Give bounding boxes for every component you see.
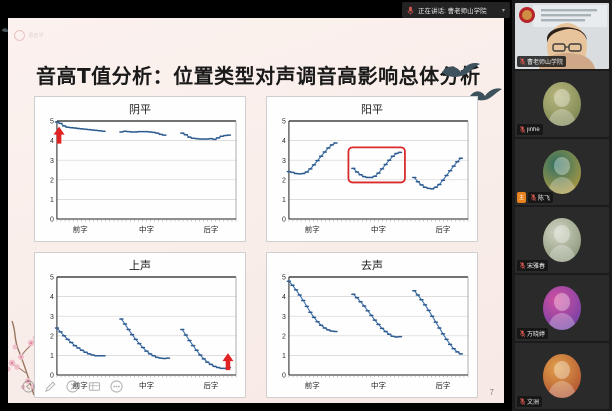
active-speaker-name: 正在讲话: 曹老师山学院 xyxy=(418,5,487,15)
chevron-down-icon[interactable]: ▾ xyxy=(502,7,505,14)
mic-muted-icon xyxy=(531,194,536,201)
x-axis-category-label: 中字 xyxy=(139,380,154,390)
participant-name-chip: 陈飞 xyxy=(528,192,553,203)
y-axis-tick-label: 1 xyxy=(282,353,286,360)
y-axis-tick-label: 5 xyxy=(50,119,54,126)
chart-plot-area: 012345前字中字后字 xyxy=(273,273,472,393)
y-axis-tick-label: 5 xyxy=(282,119,286,126)
y-axis-tick-label: 5 xyxy=(50,275,54,282)
participant-name-chip: 文洲 xyxy=(517,396,542,407)
mic-muted-icon xyxy=(520,398,525,405)
chart-series-line xyxy=(353,294,400,337)
x-axis-category-label: 后字 xyxy=(203,380,218,390)
chart-series-line xyxy=(121,319,168,359)
watermark-ring-icon xyxy=(14,30,25,41)
chart-title: 阴平 xyxy=(35,101,245,117)
more-options-icon[interactable] xyxy=(110,380,123,393)
y-axis-tick-label: 0 xyxy=(50,217,54,224)
participant-filmstrip[interactable]: 曹老师山学院jinhe主陈飞宋雅春万晓婷文洲 xyxy=(512,0,612,411)
y-axis-tick-label: 0 xyxy=(282,217,286,224)
x-axis-category-label: 中字 xyxy=(139,224,154,234)
avatar xyxy=(543,354,581,398)
chart-title: 去声 xyxy=(267,257,477,273)
x-axis-category-label: 后字 xyxy=(435,380,450,390)
participant-name: jinhe xyxy=(527,127,540,133)
y-axis-tick-label: 1 xyxy=(50,353,54,360)
chart-svg-2: 012345前字中字后字 xyxy=(41,273,240,393)
participant-name-chip: jinhe xyxy=(517,124,543,135)
participant-name: 宋雅春 xyxy=(527,261,545,270)
participant-name-chip: 曹老师山学院 xyxy=(517,56,566,67)
host-badge: 主 xyxy=(517,192,526,203)
participant-tile[interactable]: 万晓婷 xyxy=(515,275,609,341)
participant-name-chip: 万晓婷 xyxy=(517,328,548,339)
chart-series-line xyxy=(289,281,336,331)
x-axis-category-label: 后字 xyxy=(435,224,450,234)
meeting-window: 语音学 音高T值分析：位置类型对声 xyxy=(0,0,612,411)
chart-card-yinping[interactable]: 阴平 012345前字中字后字 xyxy=(34,96,246,242)
chart-plot-area: 012345前字中字后字 xyxy=(273,117,472,237)
y-axis-tick-label: 2 xyxy=(50,177,54,184)
participant-name-chip: 宋雅春 xyxy=(517,260,548,271)
mic-muted-icon xyxy=(520,330,525,337)
chart-title: 上声 xyxy=(35,257,245,273)
y-axis-tick-label: 2 xyxy=(282,333,286,340)
avatar xyxy=(543,218,581,262)
mic-muted-icon xyxy=(520,262,525,269)
y-axis-tick-label: 3 xyxy=(50,314,54,321)
y-axis-tick-label: 3 xyxy=(50,158,54,165)
x-axis-category-label: 中字 xyxy=(371,224,386,234)
participant-tile[interactable]: 文洲 xyxy=(515,343,609,409)
participant-name: 陈飞 xyxy=(538,193,550,202)
y-axis-tick-label: 1 xyxy=(50,197,54,204)
x-axis-category-label: 前字 xyxy=(305,224,320,234)
y-axis-tick-label: 1 xyxy=(282,197,286,204)
y-axis-tick-label: 3 xyxy=(282,314,286,321)
next-slide-icon[interactable] xyxy=(66,380,79,393)
participant-name: 万晓婷 xyxy=(527,329,545,338)
participant-tile[interactable]: 曹老师山学院 xyxy=(515,3,609,69)
y-axis-tick-label: 5 xyxy=(282,275,286,282)
shared-screen-stage[interactable]: 语音学 音高T值分析：位置类型对声 xyxy=(0,0,512,411)
participant-tile[interactable]: 主陈飞 xyxy=(515,139,609,205)
participant-tile[interactable]: jinhe xyxy=(515,71,609,137)
chart-title: 阳平 xyxy=(267,101,477,117)
y-axis-tick-label: 0 xyxy=(282,373,286,380)
presentation-slide[interactable]: 语音学 音高T值分析：位置类型对声 xyxy=(8,18,504,403)
x-axis-category-label: 前字 xyxy=(305,380,320,390)
y-axis-tick-label: 2 xyxy=(50,333,54,340)
prev-slide-icon[interactable] xyxy=(22,380,35,393)
avatar xyxy=(543,286,581,330)
y-axis-tick-label: 2 xyxy=(282,177,286,184)
avatar xyxy=(543,82,581,126)
chart-svg-1: 012345前字中字后字 xyxy=(273,117,472,237)
y-axis-tick-label: 4 xyxy=(50,294,54,301)
slide-title: 音高T值分析：位置类型对声调音高影响总体分析 xyxy=(36,60,466,90)
chart-card-yangping[interactable]: 阳平 012345前字中字后字 xyxy=(266,96,478,242)
participant-tile[interactable]: 宋雅春 xyxy=(515,207,609,273)
participant-name: 曹老师山学院 xyxy=(527,57,563,66)
chart-svg-0: 012345前字中字后字 xyxy=(41,117,240,237)
slide-page-number: 7 xyxy=(490,388,494,397)
active-speaker-banner: 正在讲话: 曹老师山学院 ▾ xyxy=(402,2,510,18)
x-axis-category-label: 前字 xyxy=(73,224,88,234)
chart-plot-area: 012345前字中字后字 xyxy=(41,273,240,393)
x-axis-category-label: 后字 xyxy=(203,224,218,234)
participant-name: 文洲 xyxy=(527,397,539,406)
y-axis-tick-label: 4 xyxy=(282,294,286,301)
red-arrow-annotation xyxy=(54,127,65,144)
chart-series-line xyxy=(57,328,104,356)
powerpoint-presenter-toolbar[interactable] xyxy=(22,377,123,395)
mic-muted-icon xyxy=(520,58,525,65)
chart-card-qusheng[interactable]: 去声 012345前字中字后字 xyxy=(266,252,478,398)
chart-plot-area: 012345前字中字后字 xyxy=(41,117,240,237)
mic-muted-icon xyxy=(520,126,525,133)
x-axis-category-label: 中字 xyxy=(371,380,386,390)
pen-icon[interactable] xyxy=(44,380,57,393)
chart-svg-3: 012345前字中字后字 xyxy=(273,273,472,393)
microphone-icon xyxy=(407,6,414,15)
slide-watermark: 语音学 xyxy=(14,27,56,43)
y-axis-tick-label: 4 xyxy=(282,138,286,145)
y-axis-tick-label: 4 xyxy=(50,138,54,145)
y-axis-tick-label: 3 xyxy=(282,158,286,165)
charts-grid: 阴平 012345前字中字后字 阳平 012345前字中字后字 上声 01234… xyxy=(34,96,478,398)
watermark-label: 语音学 xyxy=(28,32,44,39)
all-slides-icon[interactable] xyxy=(88,380,101,393)
avatar xyxy=(543,150,581,194)
